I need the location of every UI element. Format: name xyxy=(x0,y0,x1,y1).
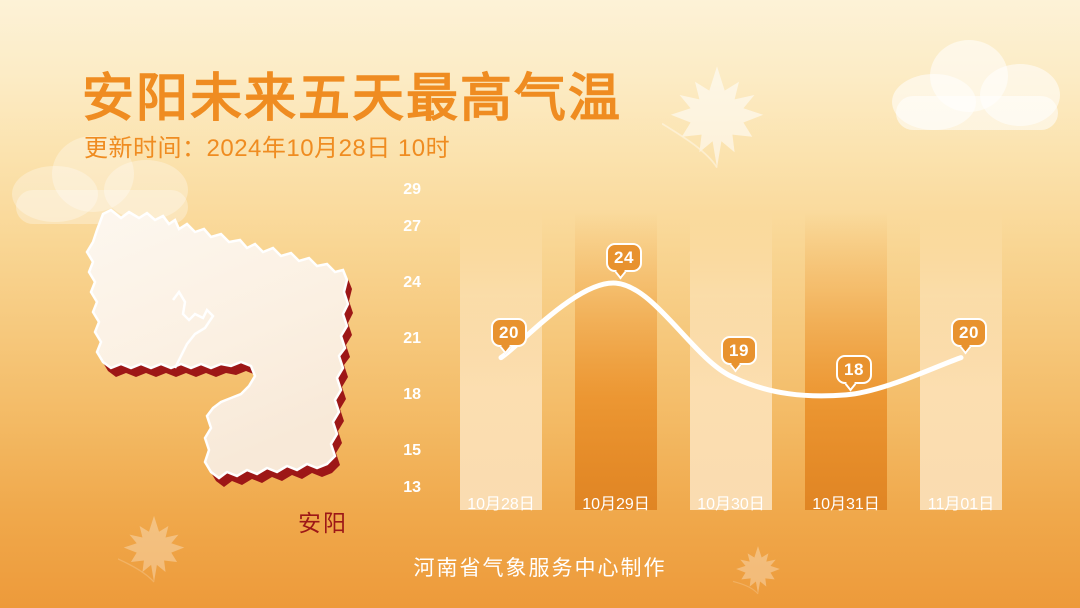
value-badge: 18 xyxy=(836,355,872,384)
footer-credit: 河南省气象服务中心制作 xyxy=(0,552,1080,582)
cloud-icon-right xyxy=(892,38,1062,130)
page-title: 安阳未来五天最高气温 xyxy=(82,56,622,131)
update-time-subtitle: 更新时间：2024年10月28日 10时 xyxy=(84,128,450,163)
map-region-label: 安阳 xyxy=(298,504,348,538)
value-badge: 19 xyxy=(721,336,757,365)
anyang-map: 安阳 xyxy=(55,196,395,546)
value-badge: 24 xyxy=(606,243,642,272)
weather-infographic: 安阳未来五天最高气温 更新时间：2024年10月28日 10时 安阳 xyxy=(0,0,1080,608)
maple-leaf-icon-top xyxy=(662,62,772,172)
value-badge: 20 xyxy=(491,318,527,347)
value-badge: 20 xyxy=(951,318,987,347)
map-shape xyxy=(55,196,395,546)
temperature-chart: 29272421181513 10月28日10月29日10月30日10月31日1… xyxy=(415,190,1035,510)
